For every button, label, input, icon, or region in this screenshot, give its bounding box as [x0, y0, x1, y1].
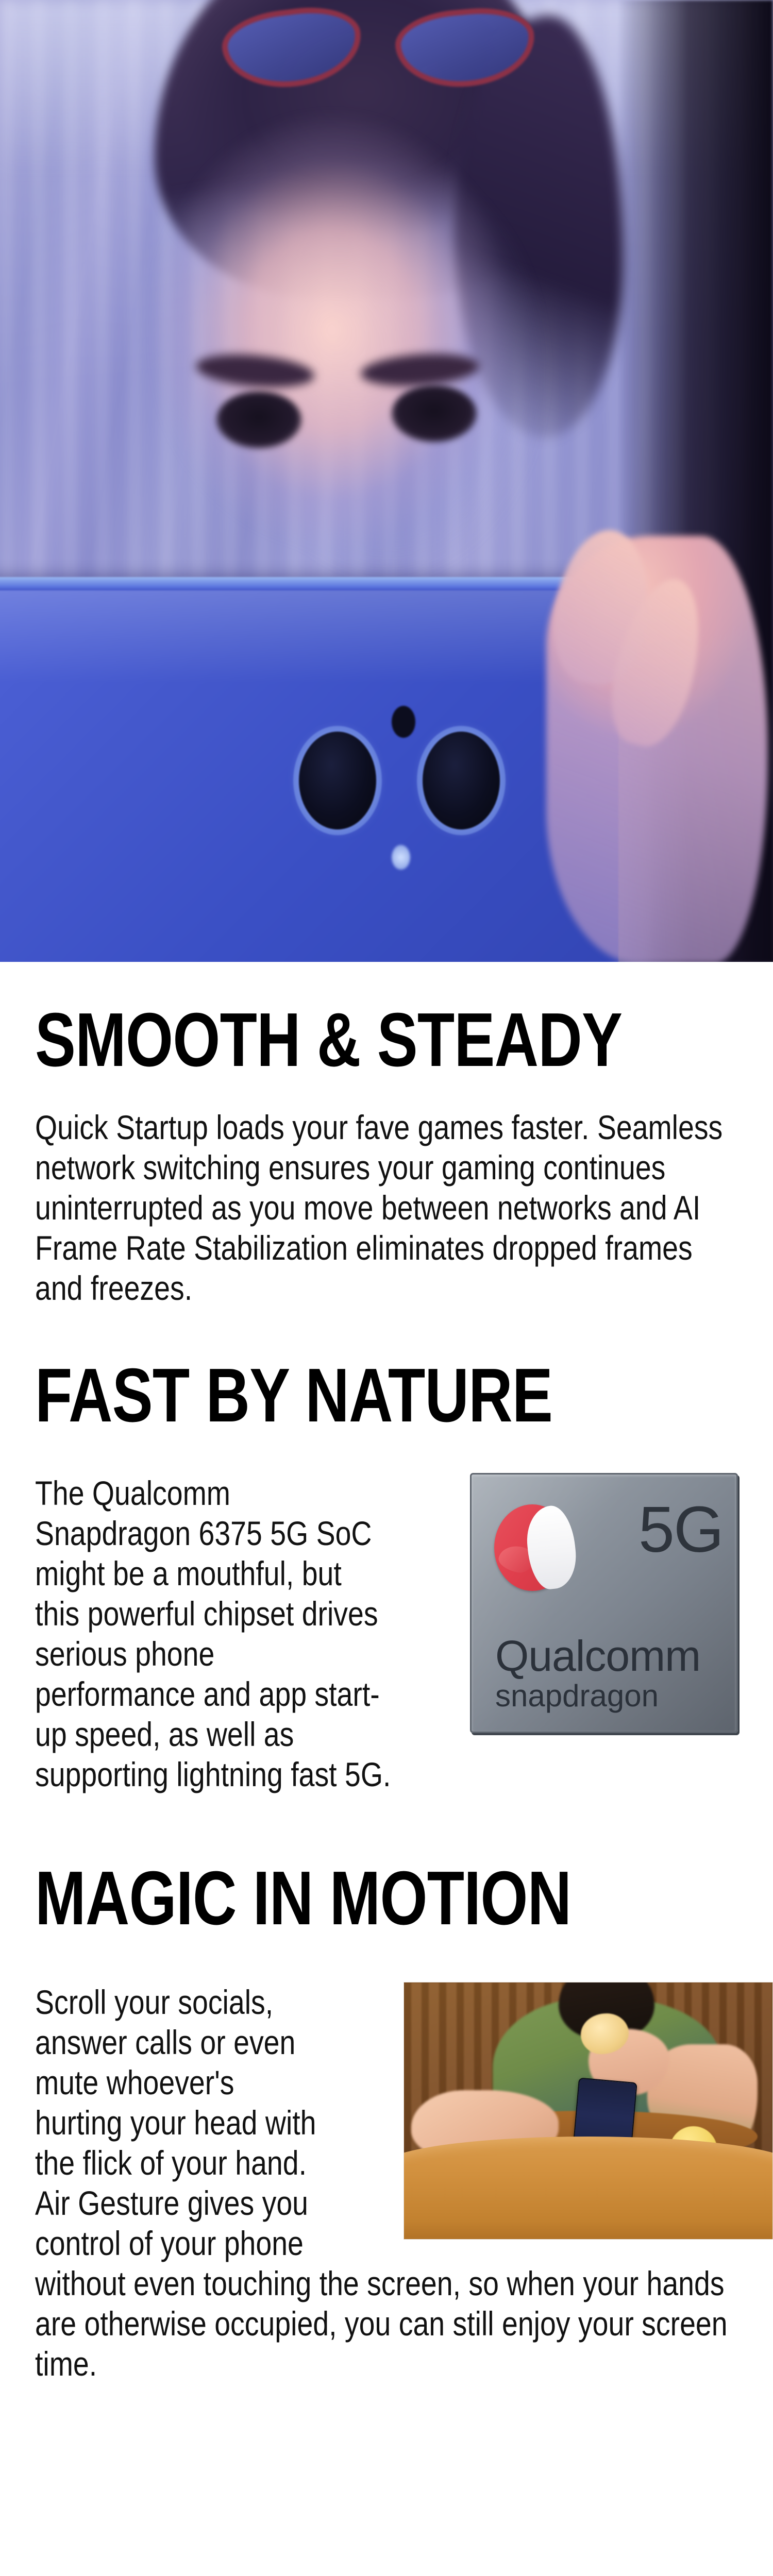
person-eye-right	[392, 385, 477, 442]
product-page: SMOOTH & STEADY Quick Startup loads your…	[0, 0, 773, 2576]
chip-5g-badge: 5G	[638, 1497, 723, 1562]
section-heading-magic-in-motion: MAGIC IN MOTION	[35, 1860, 597, 1937]
section-heading-smooth-steady: SMOOTH & STEADY	[35, 1002, 597, 1078]
phone-camera-flash	[392, 845, 410, 870]
sunglasses-left-lens	[219, 1, 366, 95]
section-body-magic-in-motion: Scroll your socials, answer calls or eve…	[35, 1982, 737, 2384]
phone-top-edge	[0, 577, 618, 590]
sunglasses-right-lens	[393, 4, 538, 93]
content-area: SMOOTH & STEADY Quick Startup loads your…	[0, 962, 773, 2384]
section-heading-fast-by-nature: FAST BY NATURE	[35, 1358, 597, 1434]
magic-in-motion-row: Scroll your socials, answer calls or eve…	[35, 1982, 738, 2384]
phone-sheen	[0, 590, 618, 683]
person-eye-left	[216, 392, 301, 448]
sunglasses-icon	[204, 9, 544, 97]
hero-phone	[0, 577, 618, 962]
phone-camera-lens-primary	[299, 732, 376, 829]
fast-by-nature-row: 5G Qualcomm snapdragon The Qualcomm Snap…	[35, 1473, 738, 1794]
section-body-smooth-steady: Quick Startup loads your fave games fast…	[35, 1107, 737, 1308]
hero-image	[0, 0, 773, 962]
phone-camera-sensor	[392, 706, 415, 738]
section-smooth-steady: SMOOTH & STEADY Quick Startup loads your…	[0, 962, 773, 1308]
section-body-fast-by-nature: The Qualcomm Snapdragon 6375 5G SoC migh…	[35, 1473, 578, 1794]
section-fast-by-nature: FAST BY NATURE 5G Qualcomm snapdrago	[0, 1308, 773, 1794]
phone-camera-lens-secondary	[423, 732, 500, 829]
section-magic-in-motion: MAGIC IN MOTION	[0, 1794, 773, 2384]
